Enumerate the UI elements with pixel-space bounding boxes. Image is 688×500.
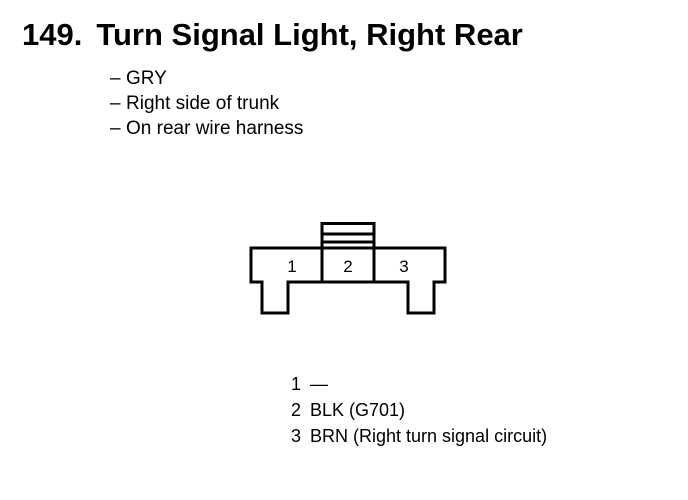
connector-pin-1-label: 1 — [287, 257, 296, 276]
list-item-label: On rear wire harness — [126, 118, 303, 139]
legend-pin-description: BLK (G701) — [310, 400, 405, 420]
page-title: 149.Turn Signal Light, Right Rear — [22, 17, 523, 53]
list-item: –On rear wire harness — [110, 116, 303, 141]
description-list: –GRY –Right side of trunk –On rear wire … — [110, 66, 303, 141]
list-item: –GRY — [110, 66, 303, 91]
legend-row: 3BRN (Right turn signal circuit) — [283, 423, 547, 449]
list-item-label: GRY — [126, 68, 167, 89]
dash-icon: – — [110, 91, 126, 116]
list-item-label: Right side of trunk — [126, 93, 279, 114]
legend-pin-number: 3 — [283, 423, 301, 449]
pin-legend: 1— 2BLK (G701) 3BRN (Right turn signal c… — [283, 371, 547, 449]
list-item: –Right side of trunk — [110, 91, 303, 116]
legend-row: 2BLK (G701) — [283, 397, 547, 423]
connector-pin-3-label: 3 — [399, 257, 408, 276]
legend-pin-number: 1 — [283, 371, 301, 397]
page-title-text: Turn Signal Light, Right Rear — [96, 17, 523, 52]
legend-row: 1— — [283, 371, 547, 397]
connector-latch-icon — [322, 224, 374, 249]
connector-pin-2-label: 2 — [343, 257, 352, 276]
connector-diagram: 1 2 3 — [248, 222, 468, 327]
legend-pin-number: 2 — [283, 397, 301, 423]
legend-pin-description: BRN (Right turn signal circuit) — [310, 426, 547, 446]
dash-icon: – — [110, 66, 126, 91]
dash-icon: – — [110, 116, 126, 141]
legend-pin-description: — — [310, 374, 328, 394]
page-title-number: 149. — [22, 17, 82, 52]
